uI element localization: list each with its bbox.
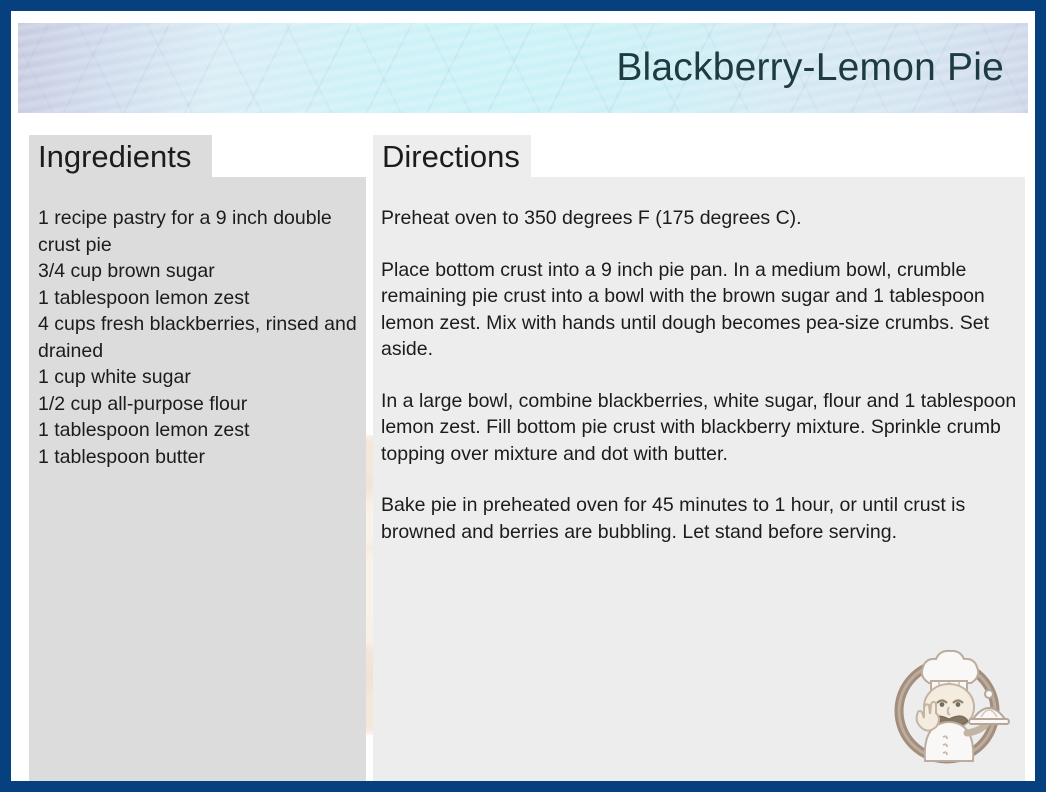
direction-step: Preheat oven to 350 degrees F (175 degre… xyxy=(381,205,1021,232)
directions-body: Preheat oven to 350 degrees F (175 degre… xyxy=(381,205,1021,545)
title-banner: Blackberry-Lemon Pie xyxy=(18,23,1028,113)
list-item: 1 tablespoon lemon zest xyxy=(38,285,364,312)
directions-heading: Directions xyxy=(382,141,520,172)
direction-step: Bake pie in preheated oven for 45 minute… xyxy=(381,492,1021,545)
ingredients-heading: Ingredients xyxy=(38,141,191,172)
list-item: 1 tablespoon butter xyxy=(38,444,364,471)
ingredients-panel: 1 recipe pastry for a 9 inch double crus… xyxy=(29,177,366,782)
list-item: 1/2 cup all-purpose flour xyxy=(38,391,364,418)
list-item: 1 recipe pastry for a 9 inch double crus… xyxy=(38,205,364,258)
ingredients-header-tab: Ingredients xyxy=(29,135,212,177)
list-item: 1 tablespoon lemon zest xyxy=(38,417,364,444)
list-item: 3/4 cup brown sugar xyxy=(38,258,364,285)
direction-step: Place bottom crust into a 9 inch pie pan… xyxy=(381,257,1021,363)
page-title: Blackberry-Lemon Pie xyxy=(616,46,1004,90)
list-item: 4 cups fresh blackberries, rinsed and dr… xyxy=(38,311,364,364)
direction-step: In a large bowl, combine blackberries, w… xyxy=(381,388,1021,468)
directions-panel: Preheat oven to 350 degrees F (175 degre… xyxy=(373,177,1025,782)
ingredients-list: 1 recipe pastry for a 9 inch double crus… xyxy=(38,205,364,470)
list-item: 1 cup white sugar xyxy=(38,364,364,391)
directions-header-tab: Directions xyxy=(373,135,531,177)
recipe-card: Blackberry-Lemon Pie xyxy=(0,0,1046,792)
